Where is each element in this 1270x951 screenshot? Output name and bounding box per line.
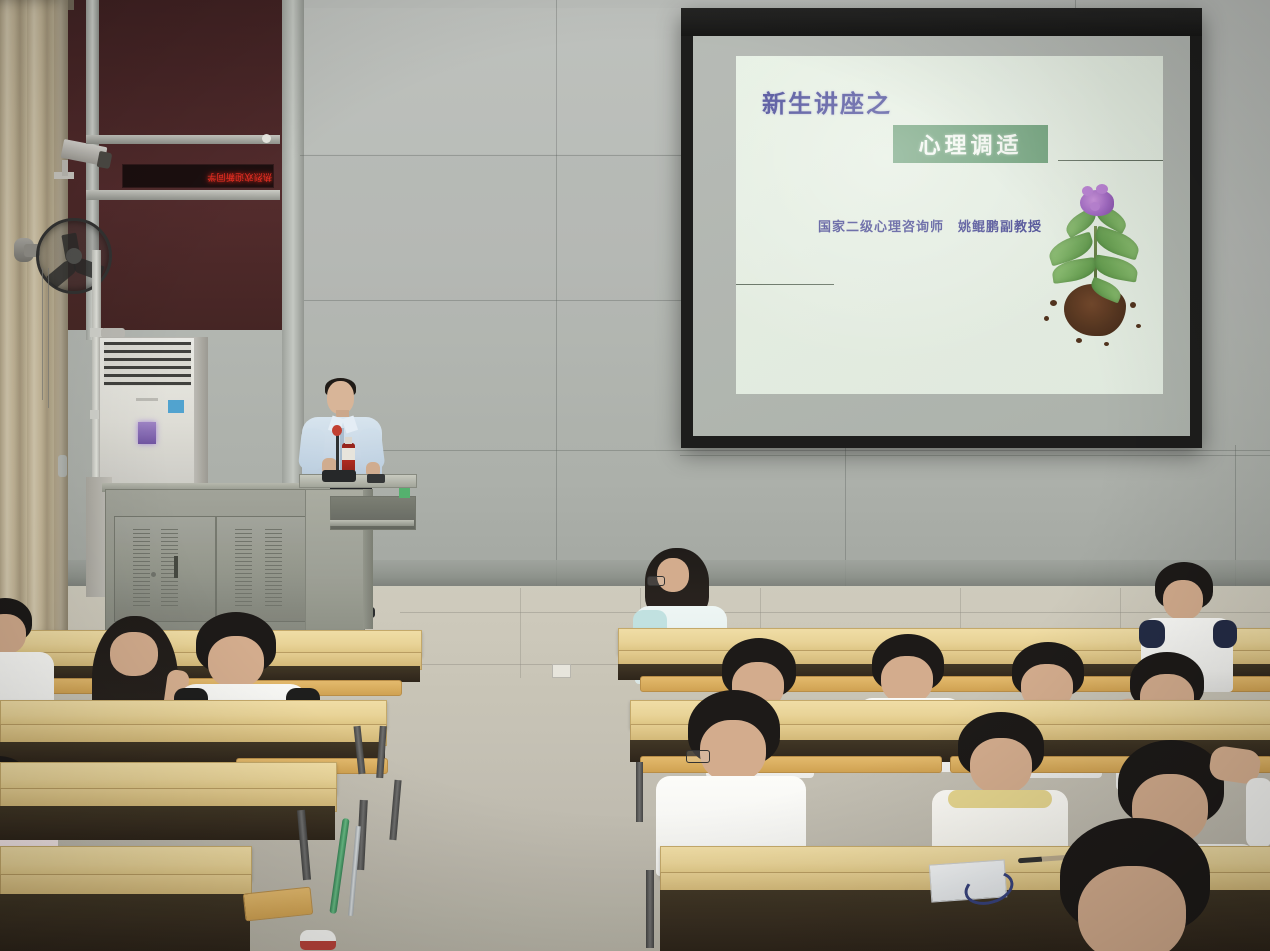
wall-wire xyxy=(42,268,43,400)
floor-tile-line xyxy=(520,588,521,678)
cabinet-handle[interactable] xyxy=(174,556,178,578)
student-sleeve xyxy=(1246,778,1270,848)
bottle-cap xyxy=(345,437,352,444)
slide-highlight-text: 心理调适 xyxy=(918,128,1022,160)
wall-seam xyxy=(300,155,690,156)
wall-seam xyxy=(304,300,692,301)
cabinet-lock-icon[interactable] xyxy=(151,572,156,577)
desk-leg xyxy=(636,762,643,822)
student-collar xyxy=(948,790,1052,808)
wall-panel-highlight xyxy=(304,8,688,154)
equipment-cabinet[interactable] xyxy=(105,489,327,631)
air-conditioner-side xyxy=(194,337,208,489)
desk-under-shadow xyxy=(0,806,335,840)
air-conditioner-vent xyxy=(104,342,191,386)
wall-wire xyxy=(48,268,49,408)
lecture-hall-scene: 热烈欢迎新同学 xyxy=(0,0,1270,951)
wall-seam xyxy=(300,450,1270,451)
podium-top xyxy=(299,474,417,488)
wall-seam xyxy=(680,455,1270,456)
cabinet-door-left[interactable] xyxy=(114,516,216,622)
microphone-stand xyxy=(336,430,339,474)
podium-shelf-lip xyxy=(330,520,414,526)
led-banner: 热烈欢迎新同学 xyxy=(122,164,274,188)
ceiling-knob xyxy=(262,134,271,143)
slide-subtitle: 国家二级心理咨询师 姚鲲鹏副教授 xyxy=(818,216,1042,235)
projection-screen-valance xyxy=(681,8,1202,36)
bottle-label xyxy=(342,448,355,460)
air-conditioner-display xyxy=(138,422,156,444)
presentation-slide: 新生讲座之 心理调适 国家二级心理咨询师 姚鲲鹏副教授 xyxy=(736,56,1163,394)
slide-title: 新生讲座之 xyxy=(762,84,892,119)
air-conditioner-brand xyxy=(136,398,158,401)
desk-leg xyxy=(646,870,654,948)
led-banner-text: 热烈欢迎新同学 xyxy=(126,168,272,184)
air-conditioner[interactable] xyxy=(99,337,196,491)
floor-tile-line xyxy=(400,612,1270,613)
slide-highlight-box: 心理调适 xyxy=(893,125,1048,163)
slide-rule-left xyxy=(736,284,834,285)
banner-shelf-top xyxy=(86,135,280,144)
camera-arm xyxy=(62,160,68,176)
microphone-base xyxy=(322,470,356,482)
floor-outlet xyxy=(552,664,571,678)
podium-sticker xyxy=(399,488,410,498)
cabinet-door-right[interactable] xyxy=(216,516,318,622)
water-bottle-on-floor xyxy=(58,455,67,477)
air-conditioner-badge xyxy=(168,400,184,413)
slide-rule-right xyxy=(1058,160,1163,161)
desk-under-shadow xyxy=(0,894,250,951)
window-curtain xyxy=(0,0,68,640)
mobile-phone[interactable] xyxy=(367,474,385,483)
student-shoe xyxy=(300,930,336,950)
slide-plant-image xyxy=(1032,184,1152,359)
microphone-icon[interactable] xyxy=(332,425,342,436)
banner-shelf xyxy=(86,190,280,200)
